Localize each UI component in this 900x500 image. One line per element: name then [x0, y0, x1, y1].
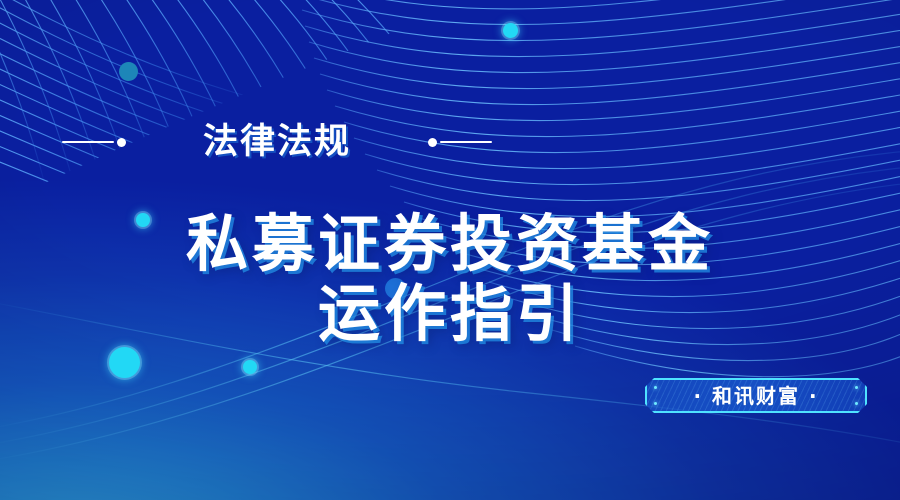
- deco-line-icon: [440, 141, 492, 143]
- dot-bottom-small-icon: [243, 360, 257, 374]
- dot-upper-left-teal-icon: [119, 62, 138, 81]
- deco-line-icon: [62, 141, 114, 143]
- badge-corner-dot-icon: [855, 386, 858, 389]
- subtitle-row: 法律法规: [62, 113, 492, 171]
- dot-title-cyan-icon: [136, 213, 150, 227]
- subtitle-text: 法律法规: [126, 125, 428, 160]
- deco-dot-icon: [428, 138, 437, 147]
- dot-title-blue-icon: [385, 278, 406, 299]
- badge-corner-dot-icon: [855, 402, 858, 405]
- promo-banner: 法律法规 私募证券投资基金 运作指引 · 和讯财富 ·: [0, 0, 900, 500]
- dot-bottom-large-icon: [109, 347, 140, 378]
- badge-corner-dot-icon: [654, 386, 657, 389]
- badge-corner-dot-icon: [654, 402, 657, 405]
- brand-badge-text: · 和讯财富 ·: [693, 386, 818, 406]
- subtitle-left-decoration: [62, 138, 126, 147]
- brand-badge: · 和讯财富 ·: [645, 378, 867, 413]
- deco-dot-icon: [117, 138, 126, 147]
- subtitle-right-decoration: [428, 138, 492, 147]
- dot-top-cyan-icon: [503, 23, 518, 38]
